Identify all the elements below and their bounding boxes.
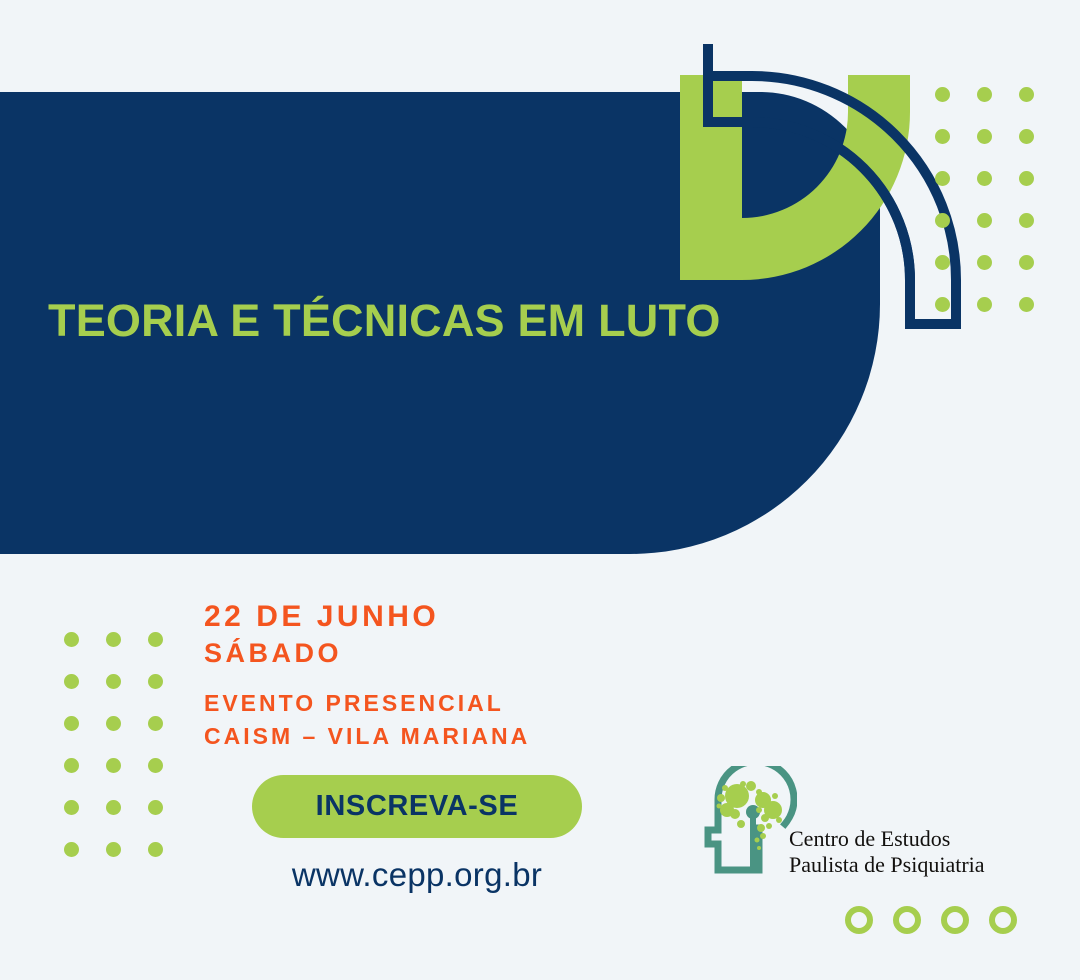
head-brain-icon [697,766,797,876]
dot [1019,297,1034,312]
decorative-arcs [660,30,960,330]
ring [941,906,969,934]
dot-grid-top-right [935,87,1061,339]
dot [1019,87,1034,102]
event-weekday: SÁBADO [204,636,530,671]
ring-decoration-row [845,906,1017,934]
dot [64,800,79,815]
organization-name-line1: Centro de Estudos [789,826,985,852]
dot [106,758,121,773]
organization-name-line2: Paulista de Psiquiatria [789,852,985,878]
dot [977,171,992,186]
dot [977,87,992,102]
dot [935,255,950,270]
dot [106,674,121,689]
dot [106,716,121,731]
poster-title: TEORIA E TÉCNICAS EM LUTO [48,296,808,346]
organization-name: Centro de Estudos Paulista de Psiquiatri… [789,826,985,877]
dot [148,842,163,857]
website-url[interactable]: www.cepp.org.br [252,856,582,894]
dot [977,297,992,312]
dot [148,758,163,773]
dot [935,297,950,312]
dot [935,129,950,144]
event-date: 22 DE JUNHO [204,598,530,636]
dot [935,213,950,228]
event-venue: CAISM – VILA MARIANA [204,720,530,753]
ring [845,906,873,934]
event-mode: EVENTO PRESENCIAL [204,687,530,720]
dot [1019,255,1034,270]
dot-grid-bottom-left [64,632,190,884]
dot [1019,129,1034,144]
dot [64,842,79,857]
dot [64,758,79,773]
dot [106,842,121,857]
dot [977,213,992,228]
dot [148,674,163,689]
dot [1019,213,1034,228]
dot [106,800,121,815]
ring [989,906,1017,934]
dot [148,716,163,731]
ring [893,906,921,934]
register-button[interactable]: INSCREVA-SE [252,775,582,838]
dot [148,800,163,815]
dot [148,632,163,647]
details-spacer [204,671,530,687]
dot [64,674,79,689]
dot [64,716,79,731]
event-details: 22 DE JUNHO SÁBADO EVENTO PRESENCIAL CAI… [204,598,530,754]
dot [935,87,950,102]
dot [106,632,121,647]
dot [977,255,992,270]
poster-canvas: TEORIA E TÉCNICAS EM LUTO [0,0,1080,980]
dot [64,632,79,647]
dot [1019,171,1034,186]
dot [977,129,992,144]
dot [935,171,950,186]
organization-logo: Centro de Estudos Paulista de Psiquiatri… [697,766,1017,876]
